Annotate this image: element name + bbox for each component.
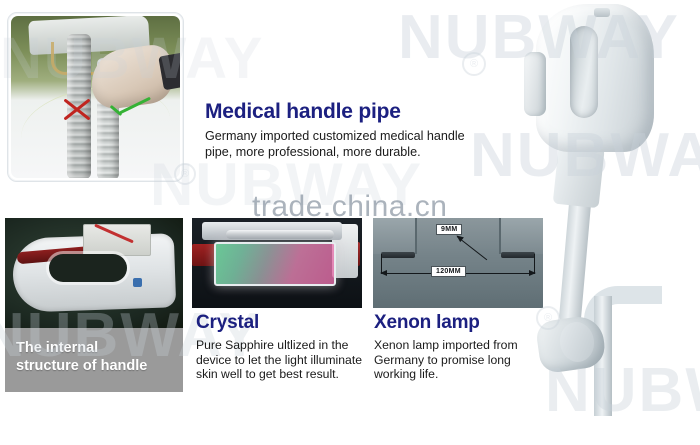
xenon-lamp-text-block: Xenon lamp Xenon lamp imported from Germ…: [374, 312, 549, 382]
medical-handle-pipe-photo: [7, 12, 184, 182]
red-component-left: [192, 244, 216, 266]
device-hose: [594, 296, 612, 416]
lamp-mount-right: [499, 218, 543, 254]
blue-connector: [133, 278, 142, 287]
circuit-board: [83, 224, 151, 256]
device-cable: [558, 195, 591, 326]
internal-structure-caption-bar: The internal structure of handle: [5, 328, 183, 392]
brand-watermark: NUBWAY: [470, 120, 700, 191]
crystal-body: Pure Sapphire ultlized in the device to …: [196, 338, 366, 382]
device-side-tab: [524, 52, 546, 116]
sapphire-crystal: [214, 242, 336, 286]
caption-line-2: structure of handle: [16, 358, 147, 374]
internal-structure-caption-text: The internal structure of handle: [16, 339, 147, 375]
brand-watermark: NUBWAY: [398, 2, 680, 73]
site-watermark: trade.china.cn: [252, 190, 447, 224]
crystal-photo: [192, 218, 362, 308]
medical-handle-pipe-text-block: Medical handle pipe Germany imported cus…: [205, 100, 495, 160]
gap-dimension-label: 9MM: [436, 224, 462, 235]
device-connector-ring: [557, 320, 596, 364]
length-dimension-label: 120MM: [431, 266, 466, 277]
medical-handle-pipe-title: Medical handle pipe: [205, 100, 495, 124]
crystal-title: Crystal: [196, 312, 366, 334]
device-button: [594, 8, 610, 17]
lamp-tube: [226, 230, 334, 239]
device-hose-curve: [584, 286, 662, 364]
crystal-text-block: Crystal Pure Sapphire ultlized in the de…: [196, 312, 366, 382]
approve-check-mark-icon: [107, 96, 149, 118]
device-grip: [570, 26, 598, 118]
electrode-right: [501, 252, 535, 258]
xenon-lamp-photo: 9MM 120MM: [373, 218, 543, 308]
device-neck: [553, 138, 606, 208]
reject-x-mark-icon: [61, 99, 91, 121]
registered-mark-icon: ®: [462, 52, 486, 76]
photo-inner: [11, 16, 180, 178]
device-head: [536, 4, 654, 152]
handle-grip-opening: [49, 254, 127, 282]
medical-handle-pipe-body: Germany imported customized medical hand…: [205, 128, 495, 160]
caption-line-1: The internal: [16, 340, 98, 356]
electrode-left: [381, 252, 415, 258]
internal-structure-photo: [5, 218, 183, 328]
product-feature-image: NUBWAY NUBWAY NUBWAY NUBWAY NUBWAY NUBWA…: [0, 0, 700, 445]
xenon-lamp-body: Xenon lamp imported from Germany to prom…: [374, 338, 549, 382]
xenon-lamp-title: Xenon lamp: [374, 312, 549, 334]
brand-watermark: NUBWAY: [545, 355, 700, 426]
